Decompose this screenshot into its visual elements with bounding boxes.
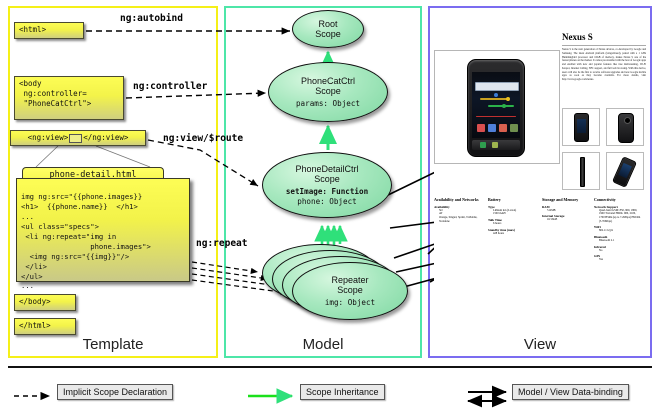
scope-phonedetailctrl: PhoneDetailCtrl Scope setImage: Function… — [262, 152, 392, 218]
scope-root: Root Scope — [292, 10, 364, 48]
spec-val-3-1a: 512MB — [547, 209, 590, 213]
thumbnail-side[interactable] — [562, 152, 600, 190]
diagram-root: <html> <body ng:controller= "PhoneCatCtr… — [0, 0, 660, 420]
spec-val-2-2a: 6 hours — [493, 222, 536, 226]
spec-heading-4: Connectivity — [594, 198, 642, 203]
label-ng-controller: ng:controller — [133, 81, 207, 92]
phone-ui-line-1 — [480, 98, 508, 100]
code-phone-detail: img ng:src="{{phone.images}} <h1> {{phon… — [16, 178, 190, 282]
scope-rep-title-1: Repeater — [331, 275, 368, 285]
thumbnail-back[interactable] — [606, 108, 644, 146]
phone-app-icon-2 — [488, 124, 496, 132]
phone-search-bar — [475, 82, 519, 91]
spec-val-4-2a: 802.11 b/g/n — [599, 229, 642, 233]
ngview-open-tag: <ng:view> — [28, 133, 69, 143]
phone-ui-line-3 — [476, 116, 516, 117]
spec-table: Availability and Networks Availability S… — [434, 198, 646, 278]
scope-detail-prop-phone: phone: Object — [297, 197, 356, 206]
spec-heading-3: Storage and Memory — [542, 198, 590, 203]
scope-cat-title-2: Scope — [315, 86, 341, 96]
ngview-slot-icon — [69, 134, 82, 143]
thumb-phone-angled-icon — [612, 156, 637, 188]
code-html-close: </html> — [14, 318, 76, 335]
spec-val-2-3a: 428 hours — [493, 232, 536, 236]
spec-val-3-2a: 16/16GB — [547, 218, 590, 222]
spec-val-4-4a: No — [599, 249, 642, 253]
legend-item-scope-inheritance: Scope Inheritance — [300, 384, 385, 400]
title-divider — [562, 45, 646, 46]
column-label-view: View — [428, 336, 652, 416]
legend-item-implicit-scope-declaration: Implicit Scope Declaration — [57, 384, 173, 400]
spec-column-connectivity: Connectivity Network Support Quad-band G… — [594, 198, 642, 262]
code-body-open: <body ng:controller= "PhoneCatCtrl"> — [14, 76, 124, 120]
legend-item-data-binding: Model / View Data-binding — [512, 384, 629, 400]
phone-ui-dot-2 — [506, 97, 510, 101]
thumb-phone-back-icon — [618, 113, 634, 143]
scope-root-title-2: Scope — [315, 29, 341, 39]
spec-val-4-5a: Yes — [599, 258, 642, 262]
code-ngview: <ng:view></ng:view> — [10, 130, 146, 146]
scope-rep-title-2: Scope — [337, 285, 363, 295]
phone-nav-icon-1 — [480, 142, 486, 148]
phone-ui-dot-3 — [502, 104, 506, 108]
scope-phonecatctrl: PhoneCatCtrl Scope params: Object — [268, 62, 388, 122]
column-label-template: Template — [8, 336, 218, 353]
phone-app-icon-1 — [477, 124, 485, 132]
phone-ui-line-2 — [488, 105, 514, 107]
scope-detail-title-1: PhoneDetailCtrl — [295, 164, 358, 174]
spec-heading-1: Availability and Networks — [434, 198, 482, 203]
spec-val-1-1c: Orange, Singtel, Sprint, T-Mobile, Vodaf… — [439, 216, 482, 223]
column-label-model: Model — [224, 336, 422, 416]
phone-nav-bar — [472, 140, 520, 150]
scope-repeater: Repeater Scope img: Object — [292, 262, 408, 320]
phone-device — [467, 59, 525, 157]
label-ng-autobind: ng:autobind — [120, 13, 183, 24]
scope-rep-prop-img: img: Object — [325, 298, 375, 307]
label-ng-view-route: ng:view/$route — [163, 133, 243, 144]
scope-cat-title-1: PhoneCatCtrl — [301, 76, 355, 86]
spec-val-4-1a: Quad-band GSM: 850, 900, 1800, 1900 Tri-… — [599, 209, 642, 224]
spec-val-2-1b: 1500 mAH — [493, 212, 536, 216]
spec-val-4-3a: Bluetooth 2.1 — [599, 239, 642, 243]
code-html-open: <html> — [14, 22, 84, 39]
legend-divider — [8, 366, 652, 368]
thumb-phone-front-icon — [574, 113, 589, 142]
scope-root-title-1: Root — [318, 19, 337, 29]
phone-nav-icon-2 — [492, 142, 498, 148]
scope-cat-prop-params: params: Object — [296, 99, 360, 108]
spec-heading-2: Battery — [488, 198, 536, 203]
view-rendered-page: Nexus S Nexus S is the next generation o… — [434, 12, 646, 344]
spec-column-availability: Availability and Networks Availability S… — [434, 198, 482, 223]
ngview-close-tag: </ng:view> — [83, 133, 128, 143]
thumbnail-front[interactable] — [562, 108, 600, 146]
scope-detail-title-2: Scope — [314, 174, 340, 184]
product-description: Nexus S is the next generation of Nexus … — [562, 48, 646, 100]
thumb-phone-side-icon — [580, 157, 585, 187]
phone-app-icon-4 — [510, 124, 518, 132]
product-title: Nexus S — [562, 32, 646, 42]
spec-column-battery: Battery Type Lithium Ion (Li-Ion) 1500 m… — [488, 198, 536, 235]
scope-detail-prop-setimage: setImage: Function — [286, 187, 368, 196]
label-ng-repeat: ng:repeat — [196, 238, 247, 249]
spec-column-storage: Storage and Memory RAM 512MB Internal St… — [542, 198, 590, 222]
phone-ui-dot-1 — [494, 93, 498, 97]
code-body-close: </body> — [14, 294, 76, 311]
phone-app-icon-3 — [499, 124, 507, 132]
thumbnail-angled[interactable] — [606, 152, 644, 190]
phone-screen — [472, 72, 520, 138]
phone-hero-image — [434, 50, 560, 164]
